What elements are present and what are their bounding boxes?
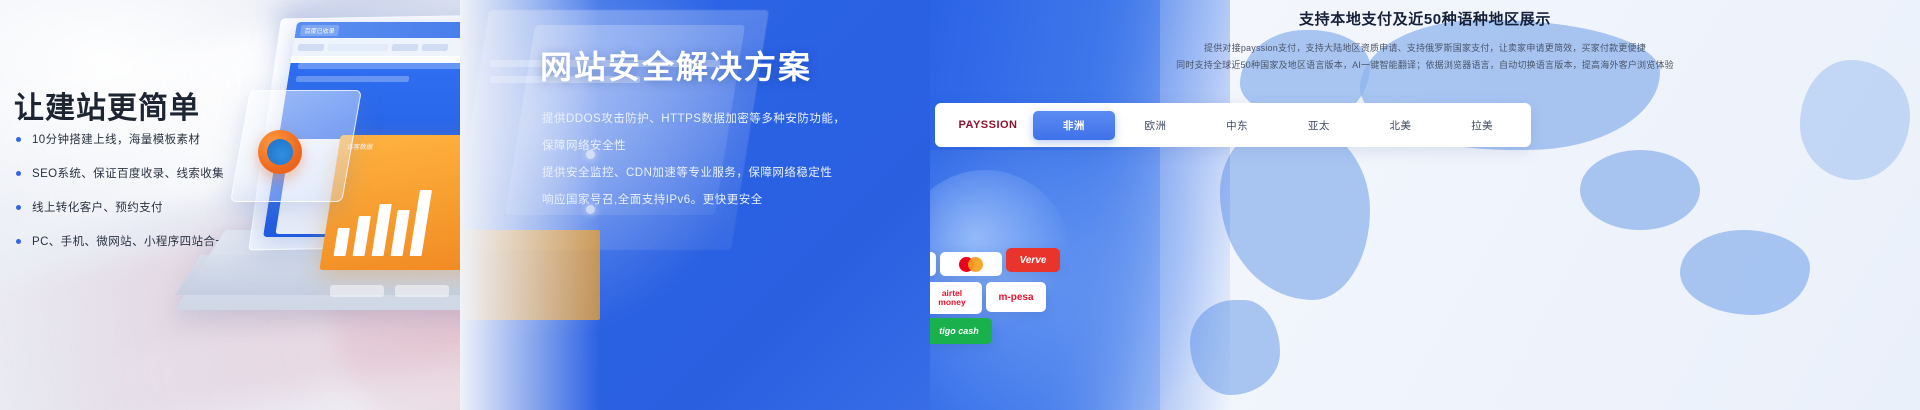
subtitle-line: 提供对接payssion支付，支持大陆地区资质申请、支持俄罗斯国家支付，让卖家申… xyxy=(930,40,1920,57)
security-description: 提供DDOS攻击防护、HTTPS数据加密等多种安防功能， 保障网络安全性 提供安… xyxy=(542,106,845,214)
payment-logos-cluster: ⚡ VISA Verve orange airtel money m-pesa … xyxy=(930,190,1110,410)
list-item-label: 10分钟搭建上线，海量模板素材 xyxy=(32,131,200,147)
description-line: 响应国家号召,全面支持IPv6。更快更安全 xyxy=(542,187,845,214)
payssion-logo-label: PAYSSION xyxy=(958,119,1017,131)
page-title: 支持本地支付及近50种语种地区展示 xyxy=(930,8,1920,29)
security-panel: 网站安全解决方案 提供DDOS攻击防护、HTTPS数据加密等多种安防功能， 保障… xyxy=(460,0,960,410)
visa-logo: VISA xyxy=(930,252,936,276)
bullet-dot-icon xyxy=(16,239,21,244)
payments-panel: 支持本地支付及近50种语种地区展示 提供对接payssion支付，支持大陆地区资… xyxy=(930,0,1920,410)
chart-bar xyxy=(353,216,371,256)
left-headline: 让建站更简单 xyxy=(14,83,200,127)
tab-asia-pacific[interactable]: 亚太 xyxy=(1278,111,1360,140)
tab-middle-east[interactable]: 中东 xyxy=(1196,111,1278,140)
illustration-chip xyxy=(330,285,384,297)
mastercard-logo xyxy=(940,252,1002,276)
toolbar-chip xyxy=(422,44,449,51)
tigo-cash-logo: tigo cash xyxy=(930,318,992,344)
toolbar-chip xyxy=(298,44,325,51)
map-landmass-southeast-asia xyxy=(1580,150,1700,230)
tab-europe[interactable]: 欧洲 xyxy=(1115,111,1197,140)
region-tabbar: PAYSSION 非洲 欧洲 中东 亚太 北美 拉美 xyxy=(935,103,1531,147)
mpesa-logo: m-pesa xyxy=(986,282,1046,312)
promo-banner: 让建站更简单 10分钟搭建上线，海量模板素材 SEO系统、保证百度收录、线索收集… xyxy=(0,0,1920,410)
toolbar-chip xyxy=(392,44,419,51)
chart-bar xyxy=(410,190,432,256)
tab-africa[interactable]: 非洲 xyxy=(1033,111,1115,140)
mastercard-circle-orange-icon xyxy=(968,257,983,272)
chart-bar xyxy=(391,210,410,256)
bullet-dot-icon xyxy=(16,205,21,210)
description-line: 提供安全监控、CDN加速等专业服务，保障网络稳定性 xyxy=(542,160,845,187)
subtitle-line: 同时支持全球近50种国家及地区语言版本，AI一键智能翻译；依据浏览器语言，自动切… xyxy=(930,57,1920,74)
content-placeholder-line xyxy=(296,76,409,82)
payssion-logo: PAYSSION xyxy=(943,119,1033,131)
tab-latin-america[interactable]: 拉美 xyxy=(1441,111,1523,140)
airtel-money-logo: airtel money xyxy=(930,282,982,314)
description-line: 提供DDOS攻击防护、HTTPS数据加密等多种安防功能， xyxy=(542,106,845,133)
tab-north-america[interactable]: 北美 xyxy=(1360,111,1442,140)
description-line: 保障网络安全性 xyxy=(542,133,845,160)
illustration-chip xyxy=(395,285,449,297)
bullet-dot-icon xyxy=(16,171,21,176)
browser-badge-label: 百度已收录 xyxy=(300,25,340,36)
chart-bar xyxy=(372,204,392,256)
security-headline: 网站安全解决方案 xyxy=(540,42,812,88)
toolbar-chip xyxy=(328,44,389,51)
region-tabs: 非洲 欧洲 中东 亚太 北美 拉美 xyxy=(1033,111,1523,140)
chart-bars xyxy=(334,184,433,256)
verve-logo: Verve xyxy=(1006,248,1060,272)
list-item-label: 线上转化客户、预约支付 xyxy=(32,199,163,215)
chart-bar xyxy=(334,228,350,256)
product-logo-icon xyxy=(258,130,302,174)
page-subtitle: 提供对接payssion支付，支持大陆地区资质申请、支持俄罗斯国家支付，让卖家申… xyxy=(930,40,1920,74)
airtel-logo-line-2: money xyxy=(938,298,965,307)
bullet-dot-icon xyxy=(16,137,21,142)
